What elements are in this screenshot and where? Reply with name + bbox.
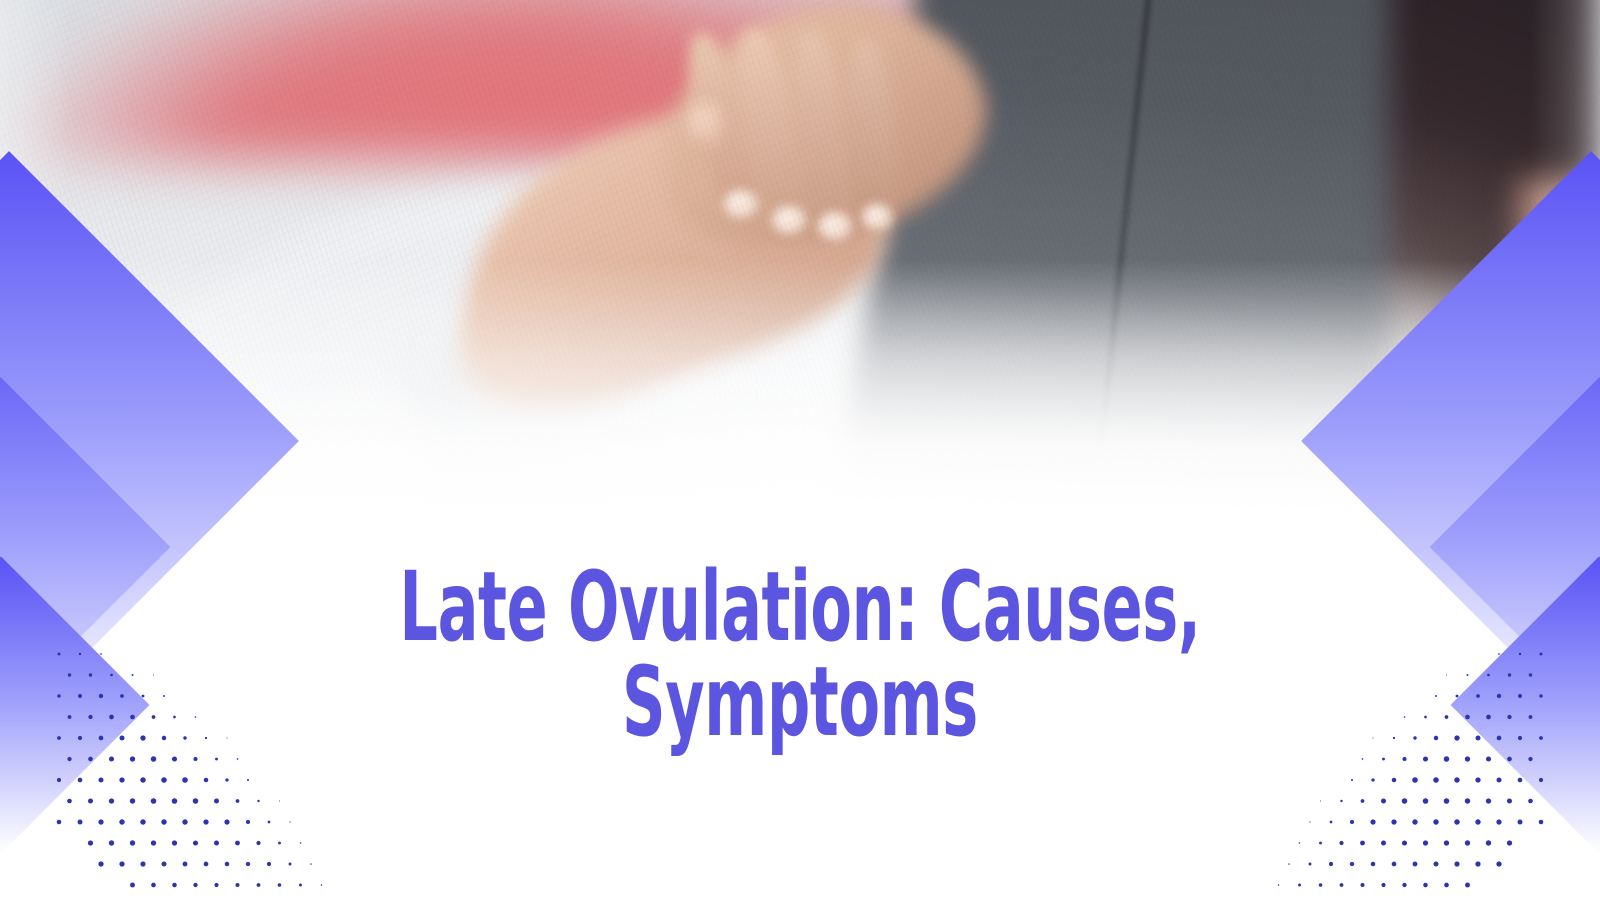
- banner-title-block: Late Ovulation: Causes,Symptoms: [0, 560, 1600, 750]
- hero-photo: [0, 0, 1600, 560]
- article-banner: Late Ovulation: Causes,Symptoms: [0, 0, 1600, 900]
- photo-white-fade: [0, 260, 1600, 560]
- photo-fade-right: [1530, 0, 1600, 560]
- page-title: Late Ovulation: Causes,Symptoms: [240, 560, 1360, 750]
- photo-fade-left: [0, 0, 70, 560]
